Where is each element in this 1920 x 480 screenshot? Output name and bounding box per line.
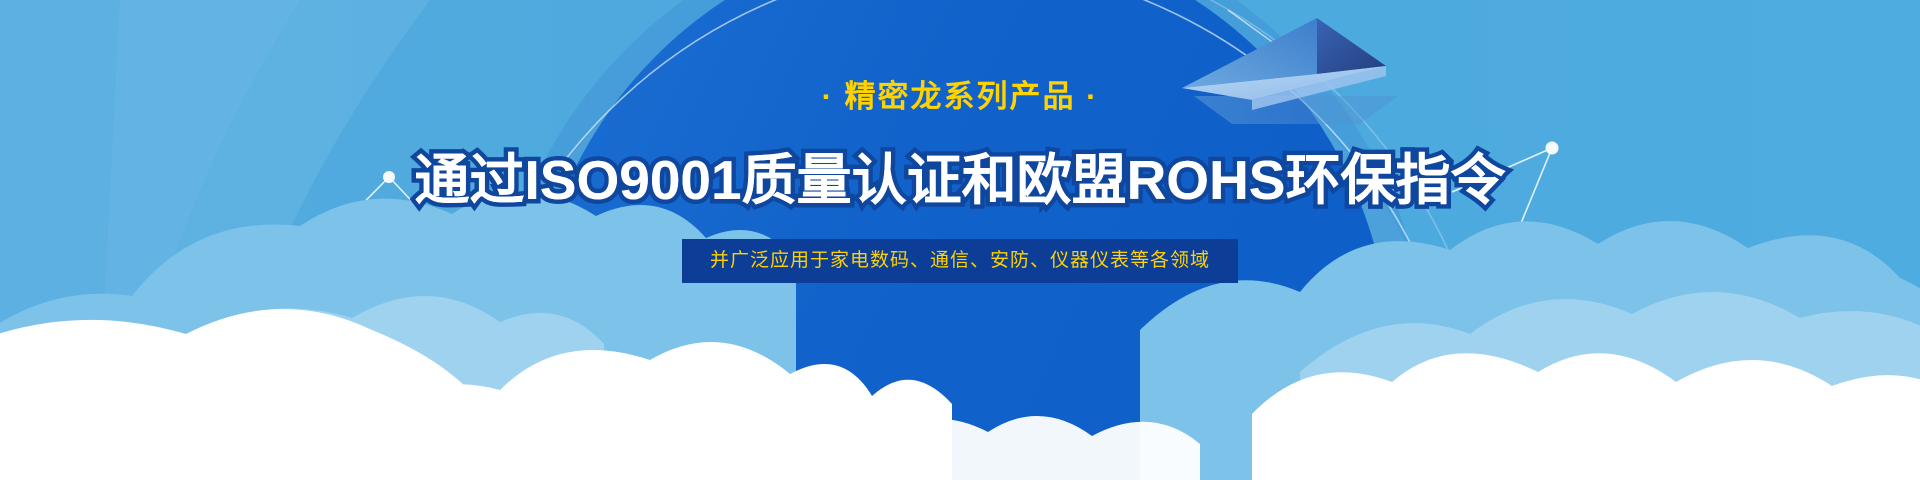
banner-background-art xyxy=(0,0,1920,480)
promo-banner: · 精密龙系列产品 · 通过ISO9001质量认证和欧盟ROHS环保指令 通过I… xyxy=(0,0,1920,480)
